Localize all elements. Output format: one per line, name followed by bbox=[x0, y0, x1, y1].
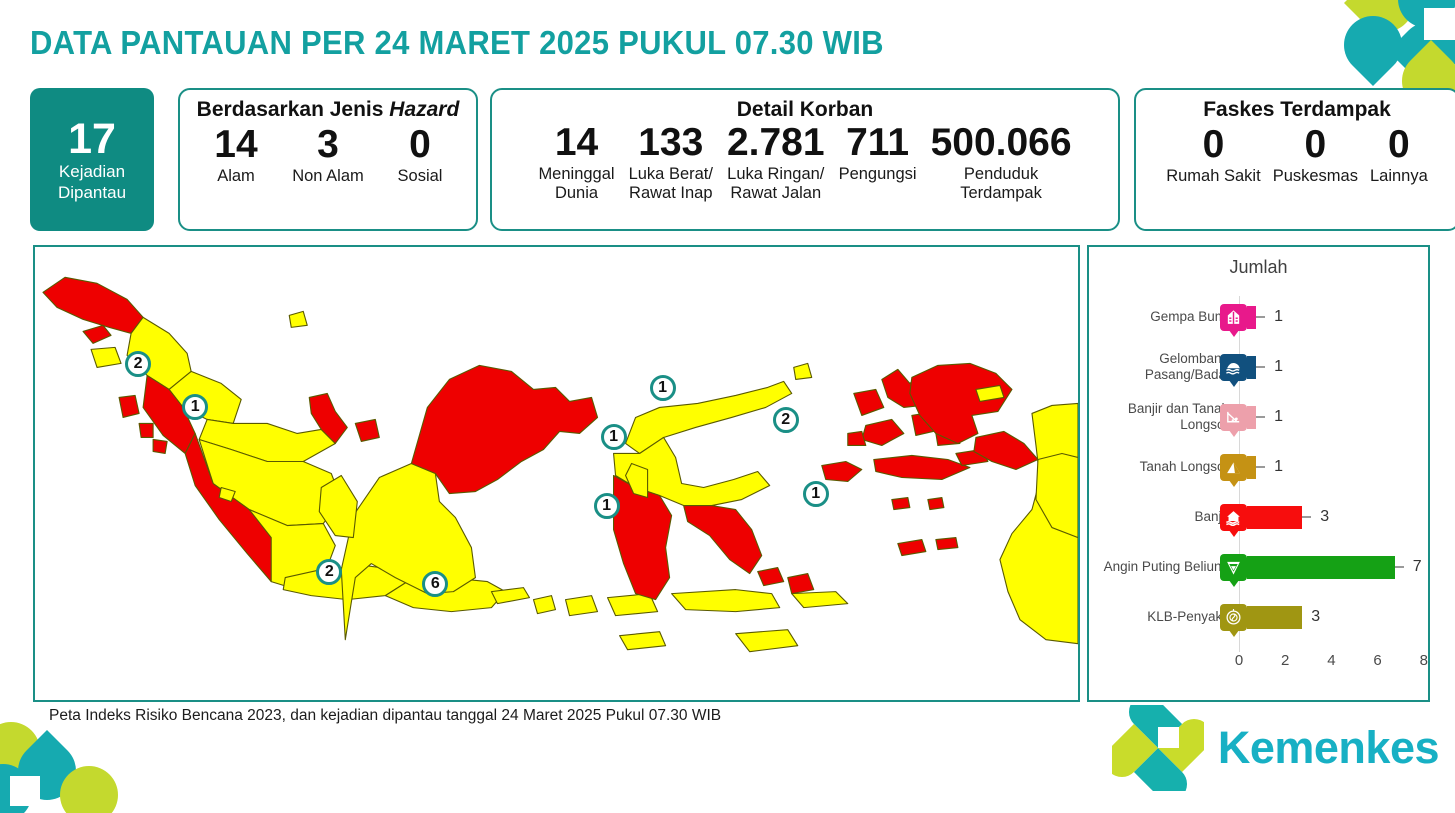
map-region bbox=[794, 363, 812, 379]
chart-row-label: Banjir bbox=[1089, 509, 1232, 525]
metric-luka-berat-label1: Luka Berat/ bbox=[629, 165, 713, 184]
page-title: DATA PANTAUAN PER 24 MARET 2025 PUKUL 07… bbox=[30, 24, 884, 62]
storm-wave-icon bbox=[1220, 354, 1247, 381]
map-region bbox=[854, 389, 884, 415]
card-berdasarkan-jenis-hazard: Berdasarkan Jenis Hazard 14 Alam 3 Non A… bbox=[178, 88, 478, 231]
metric-rumah-sakit-label: Rumah Sakit bbox=[1166, 167, 1260, 186]
metric-non-alam-label: Non Alam bbox=[282, 167, 374, 186]
chart-row: Gelombang Pasang/Badai1 bbox=[1089, 342, 1428, 392]
map-marker[interactable]: 2 bbox=[125, 351, 151, 377]
kejadian-dipantau-badge: 17 Kejadian Dipantau bbox=[30, 88, 154, 231]
metric-meninggal-dunia: 14 Meninggal Dunia bbox=[531, 120, 621, 203]
chart-leader-line bbox=[1256, 466, 1265, 468]
map-region bbox=[289, 311, 307, 327]
metric-puskesmas-label: Puskesmas bbox=[1273, 167, 1358, 186]
map-region bbox=[898, 540, 926, 556]
hazard-count-chart-panel: Jumlah Gempa Bumi1Gelombang Pasang/Badai… bbox=[1087, 245, 1430, 702]
chart-x-tick: 4 bbox=[1327, 652, 1335, 669]
map-region bbox=[684, 506, 762, 574]
map-marker[interactable]: 1 bbox=[594, 493, 620, 519]
metric-luka-ringan: 2.781 Luka Ringan/ Rawat Jalan bbox=[720, 120, 832, 203]
metric-penduduk-terdampak-label1: Penduduk bbox=[931, 165, 1072, 184]
map-region bbox=[119, 395, 139, 417]
card-detail-korban: Detail Korban 14 Meninggal Dunia 133 Luk… bbox=[490, 88, 1120, 231]
earthquake-building-icon bbox=[1220, 304, 1247, 331]
chart-leader-line bbox=[1256, 416, 1265, 418]
map-region bbox=[974, 431, 1038, 469]
kemenkes-logo: Kemenkes bbox=[1112, 705, 1439, 791]
chart-bar bbox=[1247, 456, 1256, 479]
metric-sosial: 0 Sosial bbox=[374, 122, 466, 186]
chart-bar-value: 1 bbox=[1274, 308, 1283, 326]
chart-row: Gempa Bumi1 bbox=[1089, 292, 1428, 342]
metric-lainnya-label: Lainnya bbox=[1370, 167, 1428, 186]
map-region bbox=[792, 592, 848, 608]
map-region bbox=[736, 630, 798, 652]
map-marker[interactable]: 1 bbox=[182, 394, 208, 420]
metric-pengungsi: 711 Pengungsi bbox=[832, 120, 924, 184]
chart-row-label: Angin Puting Beliung bbox=[1089, 559, 1232, 575]
chart-bar bbox=[1247, 556, 1395, 579]
chart-x-tick: 2 bbox=[1281, 652, 1289, 669]
map-region bbox=[672, 590, 780, 612]
chart-bar bbox=[1247, 406, 1256, 429]
map-marker[interactable]: 1 bbox=[650, 375, 676, 401]
metric-non-alam: 3 Non Alam bbox=[282, 122, 374, 186]
decoration-bottom-left bbox=[0, 718, 130, 813]
map-region bbox=[566, 596, 598, 616]
chart-row-label: KLB-Penyakit bbox=[1089, 609, 1232, 625]
chart-bar bbox=[1247, 356, 1256, 379]
chart-x-axis: 02468 bbox=[1239, 652, 1424, 672]
metric-puskesmas-value: 0 bbox=[1273, 122, 1358, 167]
chart-row-label: Tanah Longsor bbox=[1089, 459, 1232, 475]
metric-luka-berat-value: 133 bbox=[629, 120, 713, 165]
map-region bbox=[758, 568, 784, 586]
map-region bbox=[91, 347, 121, 367]
metric-alam-value: 14 bbox=[190, 122, 282, 167]
metric-penduduk-terdampak-label2: Terdampak bbox=[931, 184, 1072, 203]
metric-luka-ringan-label2: Rawat Jalan bbox=[727, 184, 825, 203]
map-source-note: Peta Indeks Risiko Bencana 2023, dan kej… bbox=[49, 707, 721, 725]
metric-luka-berat: 133 Luka Berat/ Rawat Inap bbox=[622, 120, 720, 203]
metric-rumah-sakit: 0 Rumah Sakit bbox=[1160, 122, 1266, 186]
map-region bbox=[788, 574, 814, 594]
map-marker[interactable]: 6 bbox=[422, 571, 448, 597]
metric-penduduk-terdampak-value: 500.066 bbox=[931, 120, 1072, 165]
card-hazard-title-em: Hazard bbox=[389, 98, 459, 121]
flood-landslide-icon bbox=[1220, 404, 1247, 431]
chart-row: Banjir dan Tanah Longsor1 bbox=[1089, 392, 1428, 442]
chart-bar-value: 3 bbox=[1311, 608, 1320, 626]
disease-outbreak-icon bbox=[1220, 604, 1247, 631]
map-region bbox=[355, 419, 379, 441]
map-region bbox=[822, 461, 862, 481]
map-region bbox=[533, 596, 555, 614]
indonesia-risk-map-panel[interactable]: 212611121 bbox=[33, 245, 1080, 702]
chart-bar bbox=[1247, 506, 1302, 529]
chart-bar bbox=[1247, 606, 1302, 629]
chart-row-label: Gelombang Pasang/Badai bbox=[1089, 351, 1232, 383]
chart-x-tick: 6 bbox=[1373, 652, 1381, 669]
map-marker[interactable]: 1 bbox=[803, 481, 829, 507]
chart-row: Tanah Longsor1 bbox=[1089, 442, 1428, 492]
chart-bar-value: 1 bbox=[1274, 358, 1283, 376]
metric-sosial-label: Sosial bbox=[374, 167, 466, 186]
map-region bbox=[139, 423, 153, 437]
chart-body: Gempa Bumi1Gelombang Pasang/Badai1Banjir… bbox=[1089, 286, 1428, 676]
metric-luka-berat-label2: Rawat Inap bbox=[629, 184, 713, 203]
map-region bbox=[43, 277, 143, 333]
map-marker[interactable]: 2 bbox=[773, 407, 799, 433]
metric-pengungsi-label1: Pengungsi bbox=[839, 165, 917, 184]
map-region bbox=[874, 455, 970, 479]
tornado-icon bbox=[1220, 554, 1247, 581]
chart-bar-value: 1 bbox=[1274, 458, 1283, 476]
metric-rumah-sakit-value: 0 bbox=[1166, 122, 1260, 167]
chart-row-label: Banjir dan Tanah Longsor bbox=[1089, 401, 1232, 433]
card-hazard-title: Berdasarkan Jenis Hazard bbox=[180, 98, 476, 122]
map-region bbox=[892, 498, 910, 510]
map-marker[interactable]: 2 bbox=[316, 559, 342, 585]
chart-leader-line bbox=[1256, 316, 1265, 318]
map-region bbox=[620, 632, 666, 650]
metric-luka-ringan-value: 2.781 bbox=[727, 120, 825, 165]
chart-bar bbox=[1247, 306, 1256, 329]
metric-meninggal-dunia-label2: Dunia bbox=[538, 184, 614, 203]
metric-lainnya: 0 Lainnya bbox=[1364, 122, 1434, 186]
kemenkes-wordmark: Kemenkes bbox=[1218, 722, 1439, 774]
chart-x-tick: 8 bbox=[1420, 652, 1428, 669]
chart-leader-line bbox=[1302, 516, 1311, 518]
map-region bbox=[936, 538, 958, 550]
kpi-row: 17 Kejadian Dipantau Berdasarkan Jenis H… bbox=[30, 88, 1430, 231]
chart-leader-line bbox=[1395, 566, 1404, 568]
card-faskes-terdampak: Faskes Terdampak 0 Rumah Sakit 0 Puskesm… bbox=[1134, 88, 1455, 231]
landslide-icon bbox=[1220, 454, 1247, 481]
metric-pengungsi-value: 711 bbox=[839, 120, 917, 165]
map-region bbox=[411, 365, 597, 493]
flood-house-icon bbox=[1220, 504, 1247, 531]
metric-penduduk-terdampak: 500.066 Penduduk Terdampak bbox=[924, 120, 1079, 203]
chart-bar-value: 1 bbox=[1274, 408, 1283, 426]
chart-bar-value: 3 bbox=[1320, 508, 1329, 526]
kejadian-label-line1: Kejadian bbox=[59, 161, 125, 182]
card-korban-title: Detail Korban bbox=[492, 98, 1118, 122]
metric-meninggal-dunia-label1: Meninggal bbox=[538, 165, 614, 184]
map-region bbox=[83, 325, 111, 343]
metric-non-alam-value: 3 bbox=[282, 122, 374, 167]
chart-row: Angin Puting Beliung7 bbox=[1089, 542, 1428, 592]
metric-puskesmas: 0 Puskesmas bbox=[1267, 122, 1364, 186]
card-hazard-title-plain: Berdasarkan Jenis bbox=[197, 98, 390, 121]
chart-row: Banjir3 bbox=[1089, 492, 1428, 542]
chart-leader-line bbox=[1256, 366, 1265, 368]
chart-row: KLB-Penyakit3 bbox=[1089, 592, 1428, 642]
indonesia-map bbox=[35, 247, 1078, 700]
kemenkes-mark-icon bbox=[1112, 705, 1204, 791]
map-marker[interactable]: 1 bbox=[601, 424, 627, 450]
kejadian-label-line2: Dipantau bbox=[58, 182, 126, 203]
map-region bbox=[862, 419, 904, 445]
metric-alam: 14 Alam bbox=[190, 122, 282, 186]
metric-sosial-value: 0 bbox=[374, 122, 466, 167]
map-region bbox=[153, 439, 167, 453]
metric-luka-ringan-label1: Luka Ringan/ bbox=[727, 165, 825, 184]
chart-row-label: Gempa Bumi bbox=[1089, 309, 1232, 325]
card-faskes-title: Faskes Terdampak bbox=[1136, 98, 1455, 122]
map-region bbox=[928, 498, 944, 510]
metric-meninggal-dunia-value: 14 bbox=[538, 120, 614, 165]
chart-title: Jumlah bbox=[1089, 257, 1428, 278]
chart-bar-value: 7 bbox=[1413, 558, 1422, 576]
metric-alam-label: Alam bbox=[190, 167, 282, 186]
chart-x-tick: 0 bbox=[1235, 652, 1243, 669]
metric-lainnya-value: 0 bbox=[1370, 122, 1428, 167]
kejadian-count: 17 bbox=[68, 117, 116, 161]
